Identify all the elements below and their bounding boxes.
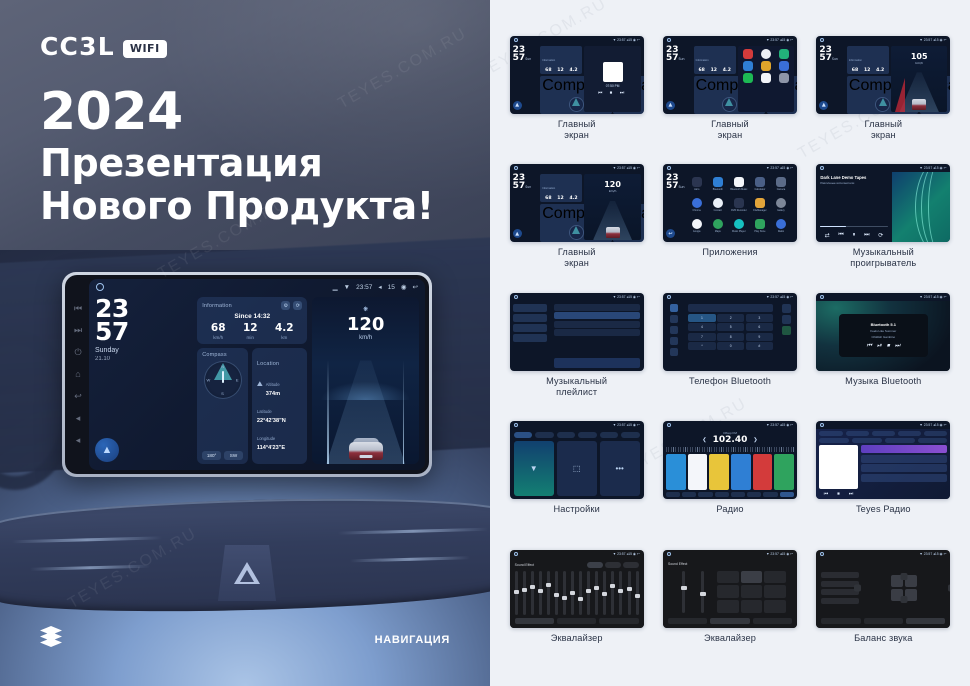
preset[interactable] <box>753 454 773 490</box>
location-icon[interactable]: ◉ <box>401 283 407 291</box>
gallery-item[interactable]: ▼ 23:57 ◂15 ◉ ↩ Bluetooth 5.1 Feels Like… <box>809 293 958 419</box>
preset-button[interactable] <box>717 600 739 613</box>
app-icon[interactable] <box>776 49 791 59</box>
compass-title: Compass <box>202 352 243 358</box>
album-art <box>819 445 857 489</box>
balance-front-button[interactable] <box>901 573 908 580</box>
next-button[interactable]: ⏭ <box>73 325 84 336</box>
home-icon[interactable] <box>820 295 824 299</box>
altitude-icon: ⛰ <box>257 381 263 389</box>
preset[interactable] <box>666 454 686 490</box>
app-icon[interactable]: DVR Recorder <box>730 198 748 217</box>
thumbnail-caption: Эквалайзер <box>551 633 603 644</box>
home-icon[interactable] <box>514 552 518 556</box>
thumbnail-grid: ▼ 23:57 ◂15 ◉ ↩ 2357Sun▲ Information6812… <box>502 36 958 676</box>
app-icon[interactable] <box>776 73 791 83</box>
thumbnail-teyes-radio[interactable]: ▼ 23:57 ◂15 ◉ ↩ ⏮ ⏹ ⏭ <box>816 421 950 499</box>
eq-slider[interactable] <box>619 571 622 615</box>
home-icon[interactable] <box>514 295 518 299</box>
home-icon[interactable] <box>820 423 824 427</box>
gallery-item[interactable]: ▼ 23:57 ◂15 ◉ ↩ ▼ ⬚ ••• Настройки <box>502 421 651 547</box>
thumbnail-caption: Баланс звука <box>854 633 912 644</box>
call-icon[interactable] <box>782 326 791 335</box>
more-card[interactable]: ••• <box>600 441 640 496</box>
preset-button[interactable] <box>717 585 739 598</box>
compass-mark-n: N <box>221 364 224 369</box>
track-artist: Childish Gambino <box>871 335 895 339</box>
clock-minutes: 57 <box>95 320 192 343</box>
clock-column: 23 57 Sunday 21.10 ▲ <box>95 297 192 464</box>
app-icon[interactable]: Bluetooth <box>709 177 727 196</box>
app-icon[interactable]: Chrome <box>688 198 706 217</box>
balance-right-button[interactable] <box>948 585 950 592</box>
preset-button[interactable] <box>717 571 739 584</box>
app-icon[interactable]: Play Store <box>751 219 769 238</box>
gallery-item[interactable]: ▼ 23:57 ◂15 ◉ ↩ 2357Sun▲ Information6812… <box>809 36 958 162</box>
play-pause-button[interactable]: ⏯ <box>877 343 882 350</box>
preset-button[interactable] <box>764 585 786 598</box>
wifi-icon: ▼ <box>344 284 350 291</box>
pause-button[interactable]: ⏸ <box>852 232 855 239</box>
dial-key[interactable]: 6 <box>746 323 773 331</box>
radio-frequency: 102.40 <box>713 435 748 445</box>
preset-button[interactable] <box>764 571 786 584</box>
thumbnail-sound-balance[interactable]: ▼ 23:57 ◂15 ◉ ↩ <box>816 550 950 628</box>
tune-up-button[interactable]: ❯ <box>753 437 757 443</box>
eq-slider[interactable] <box>579 571 582 615</box>
dial-key[interactable]: * <box>688 342 715 350</box>
tuning-scale[interactable] <box>666 447 794 452</box>
repeat-icon[interactable]: ⟳ <box>878 232 883 239</box>
app-icon[interactable] <box>759 49 774 59</box>
layers-icon[interactable] <box>40 626 62 646</box>
visualizer <box>892 172 951 242</box>
bass-treble-sliders[interactable] <box>674 571 712 613</box>
home-icon[interactable] <box>514 166 518 170</box>
adas-widget[interactable]: 105km/h <box>891 46 947 112</box>
head-unit-screen[interactable]: ▁ ▼ 23:57 ◂ 15 ◉ ↩ 23 57 <box>89 279 425 470</box>
thumbnail-caption: Главныйэкран <box>864 119 902 141</box>
track-list[interactable] <box>550 301 644 371</box>
dial-key[interactable]: 7 <box>688 333 715 341</box>
thumbnail-home-apps[interactable]: ▼ 23:57 ◂15 ◉ ↩ 2357Sun▲ Information6812… <box>663 36 797 114</box>
hotspot-card[interactable]: ⬚ <box>557 441 597 496</box>
dial-key[interactable]: # <box>746 342 773 350</box>
dial-key[interactable]: 5 <box>717 323 744 331</box>
compass-mark-e: E <box>236 378 239 383</box>
stat-distance: 4.2 km <box>275 322 294 340</box>
phone-number-input[interactable] <box>688 304 772 312</box>
preset-button[interactable] <box>764 600 786 613</box>
bluetooth-version: Bluetooth 5.1 <box>871 322 896 327</box>
gallery-item[interactable]: ▼ 23:57 ◂15 ◉ ↩ <box>809 550 958 676</box>
app-icon[interactable]: Maps <box>709 219 727 238</box>
app-icon[interactable]: Google <box>688 219 706 238</box>
gallery-item[interactable]: ▼ 23:57 ◂15 ◉ ↩ ⏮ ⏹ ⏭ <box>809 421 958 547</box>
preset[interactable] <box>774 454 794 490</box>
navigation-fab[interactable]: ▲ <box>95 438 119 462</box>
head-unit-device: ⏮ ⏭ ⏻ ⌂ ↩ ◂ ◂ ▁ ▼ 23:57 ◂ <box>62 272 432 477</box>
app-icon[interactable] <box>776 61 791 71</box>
presentation-page: CC3L WIFI 2024 Презентация Нового Продук… <box>0 0 970 686</box>
stop-button[interactable]: ⏹ <box>887 343 890 350</box>
app-icon[interactable] <box>759 61 774 71</box>
trip-since: Since 14:32 <box>202 313 302 320</box>
thumbnail-caption: Teyes Радио <box>856 504 911 515</box>
navigation-label: НАВИГАЦИЯ <box>375 634 450 646</box>
thumbnail-bluetooth-music[interactable]: ▼ 23:57 ◂15 ◉ ↩ Bluetooth 5.1 Feels Like… <box>816 293 950 371</box>
app-icon[interactable]: Bluetooth Music <box>730 177 748 196</box>
compass-mark-w: W <box>207 378 211 383</box>
dialpad[interactable]: 1 2 3 4 5 6 7 8 9 * 0 # <box>688 314 772 351</box>
refresh-icon[interactable]: ⟳ <box>293 301 302 310</box>
thumbnail-home-adas[interactable]: ▼ 23:57 ◂15 ◉ ↩ 2357Sun▲ Information6812… <box>816 36 950 114</box>
compass-dial: N E S W <box>204 361 242 399</box>
speed-value: 120 <box>347 314 385 335</box>
thumbnail-equalizer-simple[interactable]: ▼ 23:57 ◂15 ◉ ↩ Sound Effect <box>663 550 797 628</box>
eq-slider[interactable] <box>523 571 526 615</box>
preset-grid[interactable] <box>717 571 786 613</box>
shuffle-icon[interactable]: ⇄ <box>825 232 830 239</box>
app-icon[interactable]: Music Player <box>730 219 748 238</box>
equalizer-sliders[interactable] <box>515 571 639 615</box>
track-title: Feels Like Summer <box>870 329 896 333</box>
dial-key[interactable]: 9 <box>746 333 773 341</box>
thumbnail-caption: Главныйэкран <box>558 119 596 141</box>
thumbnail-caption: Музыка Bluetooth <box>845 376 921 387</box>
prev-button[interactable]: ⏮ <box>824 491 829 497</box>
preset-button[interactable] <box>741 571 763 584</box>
speed-value: 120km/h <box>604 180 621 193</box>
hazard-button[interactable] <box>218 545 276 601</box>
gallery-item[interactable]: ▼ 23:57 ◂15 ◉ ↩ 2357Sun▲ Information6812… <box>502 164 651 290</box>
app-icon[interactable]: Calculator <box>751 177 769 196</box>
thumbnail-bluetooth-phone[interactable]: ▼ 23:57 ◂15 ◉ ↩ 1 2 3 4 5 6 <box>663 293 797 371</box>
home-icon[interactable] <box>667 423 671 427</box>
app-icon[interactable]: FileManager <box>751 198 769 217</box>
preset[interactable] <box>709 454 729 490</box>
progress-bar[interactable] <box>820 226 887 228</box>
eq-slider[interactable] <box>555 571 558 615</box>
adas-speed-panel[interactable]: ❋ 120 km/h <box>312 297 419 464</box>
volume-level: 15 <box>388 284 395 291</box>
dial-key[interactable]: 8 <box>717 333 744 341</box>
prev-button[interactable]: ⏮ <box>838 232 843 239</box>
physical-button-rail[interactable]: ⏮ ⏭ ⏻ ⌂ ↩ ◂ ◂ <box>67 279 89 470</box>
eq-slider[interactable] <box>531 571 534 615</box>
thumbnail-apps[interactable]: ▼ 23:57 ◂15 ◉ ↩ 2357Sun↩ Авто Bluetooth … <box>663 164 797 242</box>
app-icon[interactable] <box>741 49 756 59</box>
track-title: Dark Lane Demo Tapes <box>820 175 887 180</box>
home-button[interactable]: ⌂ <box>73 369 84 380</box>
status-time: 23:57 <box>356 284 372 291</box>
settings-icon[interactable]: ⚙ <box>281 301 290 310</box>
thumbnail-music-player[interactable]: ▼ 23:57 ◂15 ◉ ↩ Dark Lane Demo Tapes Раз… <box>816 164 950 242</box>
app-icon[interactable]: Contact <box>709 198 727 217</box>
preset-button[interactable] <box>741 600 763 613</box>
volume-icon: ◂ <box>378 283 381 291</box>
stat-duration: 12 min <box>243 322 258 340</box>
compass-direction: SW <box>224 451 243 460</box>
app-drawer[interactable]: Авто Bluetooth Bluetooth Music Calculato… <box>688 174 794 240</box>
gallery-item[interactable]: ▼ 23:57 ◂15 ◉ ↩ Музыкальныйплейлист <box>502 293 651 419</box>
thumbnail-home-road[interactable]: ▼ 23:57 ◂15 ◉ ↩ 2357Sun▲ Information6812… <box>510 164 644 242</box>
radio-presets[interactable] <box>666 454 794 490</box>
thumbnail-caption: Настройки <box>553 504 599 515</box>
eq-slider[interactable] <box>515 571 518 615</box>
navigation-fab[interactable]: ▲ <box>513 101 522 110</box>
eq-slider[interactable] <box>547 571 550 615</box>
navigation-fab[interactable]: ▲ <box>513 229 522 238</box>
balance-rear-button[interactable] <box>901 596 908 603</box>
dial-key[interactable]: 1 <box>688 314 715 322</box>
gallery-item[interactable]: ▼ 23:57 ◂15 ◉ ↩ 2357Sun▲ Information6812… <box>655 36 804 162</box>
gallery-item[interactable]: ▼ 23:57 ◂15 ◉ ↩ Sound Effect <box>502 550 651 676</box>
prev-button[interactable]: ⏮ <box>73 303 84 314</box>
backspace-icon[interactable] <box>782 315 791 324</box>
speed-value: 105km/h <box>911 52 928 65</box>
thumbnail-caption: Главныйэкран <box>711 119 749 141</box>
media-widget[interactable]: 07:50 PM ⏮ ⏹ ⏭ <box>584 46 640 112</box>
thumbnail-playlist[interactable]: ▼ 23:57 ◂15 ◉ ↩ <box>510 293 644 371</box>
settings-tabs[interactable] <box>514 432 640 438</box>
home-icon[interactable] <box>820 552 824 556</box>
compass-heading: 180° <box>202 451 221 460</box>
prev-button[interactable]: ⏮ <box>866 343 871 350</box>
phone-sidebar[interactable] <box>663 301 684 371</box>
stop-button[interactable]: ⏹ <box>837 491 840 497</box>
favorite-icon[interactable] <box>782 304 791 313</box>
dial-key[interactable]: 2 <box>717 314 744 322</box>
thumbnail-caption: Главныйэкран <box>558 247 596 269</box>
lead-car-graphic <box>349 430 383 460</box>
preset[interactable] <box>688 454 708 490</box>
hero-headline: 2024 Презентация Нового Продукта! <box>40 86 434 227</box>
thumbnail-caption: Музыкальныйпроигрыватель <box>850 247 916 269</box>
location-widget[interactable]: Location ⛰ Altitude 374m <box>252 348 307 464</box>
wifi-card[interactable]: ▼ <box>514 441 554 496</box>
app-icon[interactable] <box>741 73 756 83</box>
volume-down-button[interactable]: ◂ <box>73 413 84 424</box>
eq-slider[interactable] <box>636 571 639 615</box>
next-button[interactable]: ⏭ <box>895 343 900 350</box>
back-icon[interactable]: ↩ <box>666 229 675 238</box>
screens-gallery-panel: TEYES.COM.RU TEYES.COM.RU TEYES.COM.RU ▼… <box>490 0 970 686</box>
clock-day: Sunday <box>95 347 192 356</box>
information-title: Information <box>202 303 232 309</box>
app-icon[interactable]: Gallery <box>772 198 790 217</box>
adas-widget[interactable]: 120km/h <box>584 174 640 240</box>
gallery-item[interactable]: ▼ 23:57 ◂15 ◉ ↩ 1 2 3 4 5 6 <box>655 293 804 419</box>
altitude-value: 374m <box>266 391 280 397</box>
app-icon[interactable]: Авто <box>688 177 706 196</box>
eq-slider[interactable] <box>587 571 590 615</box>
home-icon[interactable] <box>514 423 518 427</box>
eq-slider[interactable] <box>563 571 566 615</box>
latitude-label: Latitude <box>257 409 272 414</box>
app-icon[interactable] <box>741 61 756 71</box>
slider[interactable] <box>682 571 685 613</box>
home-icon[interactable] <box>667 38 671 42</box>
hero-panel: CC3L WIFI 2024 Презентация Нового Продук… <box>0 0 490 686</box>
headline-line-2: Нового Продукта! <box>40 185 434 228</box>
preset-button[interactable] <box>741 585 763 598</box>
station-list[interactable] <box>861 445 948 497</box>
balance-left-button[interactable] <box>854 585 861 592</box>
gallery-item[interactable]: ▼ 23:57 ◂15 ◉ ↩ Sound Effect <box>655 550 804 676</box>
longitude-value: 114°4'23"E <box>257 445 302 451</box>
dial-key[interactable]: 4 <box>688 323 715 331</box>
home-icon[interactable] <box>514 38 518 42</box>
app-icon[interactable]: Camera <box>772 177 790 196</box>
latitude-value: 22°42'38"N <box>257 418 302 424</box>
clock-date: 21.10 <box>95 356 192 364</box>
stat-speed: 68 km/h <box>211 322 226 340</box>
thumbnail-caption: Эквалайзер <box>704 633 756 644</box>
altitude-label: Altitude <box>266 382 280 387</box>
compass-widget[interactable]: Compass N E S W 180° <box>197 348 248 464</box>
gallery-item[interactable]: ▼ 23:57 ◂15 ◉ ↩ Обзор FM ❮ 102.40 ❯ <box>655 421 804 547</box>
logo-model: CC3L <box>40 32 115 61</box>
widgets-column: Information ⚙ ⟳ Since 14:32 68 <box>197 297 307 464</box>
information-widget[interactable]: Information ⚙ ⟳ Since 14:32 68 <box>197 297 307 344</box>
thumbnail-caption: Приложения <box>702 247 757 258</box>
gallery-item[interactable]: ▼ 23:57 ◂15 ◉ ↩ Dark Lane Demo Tapes Раз… <box>809 164 958 290</box>
speed-icon: ❋ <box>363 306 368 313</box>
volume-up-button[interactable]: ◂ <box>73 435 84 446</box>
next-button[interactable]: ⏭ <box>864 232 869 239</box>
dial-key[interactable]: 0 <box>717 342 744 350</box>
dial-key[interactable]: 3 <box>746 314 773 322</box>
longitude-label: Longitude <box>257 436 275 441</box>
logo-wifi-badge: WIFI <box>123 40 167 58</box>
tune-down-button[interactable]: ❮ <box>702 437 706 443</box>
thumbnail-radio[interactable]: ▼ 23:57 ◂15 ◉ ↩ Обзор FM ❮ 102.40 ❯ <box>663 421 797 499</box>
status-bar: ▁ ▼ 23:57 ◂ 15 ◉ ↩ <box>89 279 425 295</box>
gallery-item[interactable]: ▼ 23:57 ◂15 ◉ ↩ 2357Sun↩ Авто Bluetooth … <box>655 164 804 290</box>
home-icon[interactable] <box>96 283 104 291</box>
product-logo: CC3L WIFI <box>40 32 167 61</box>
home-icon[interactable] <box>820 166 824 170</box>
app-icon[interactable]: Radio <box>772 219 790 238</box>
speed-unit: km/h <box>359 335 372 341</box>
back-button[interactable]: ↩ <box>73 391 84 402</box>
thumbnail-home-media[interactable]: ▼ 23:57 ◂15 ◉ ↩ 2357Sun▲ Information6812… <box>510 36 644 114</box>
app-icon[interactable] <box>759 73 774 83</box>
home-icon[interactable] <box>667 166 671 170</box>
signal-icon: ▁ <box>333 283 338 291</box>
next-button[interactable]: ⏭ <box>849 491 854 497</box>
app-shortcuts[interactable] <box>738 46 794 112</box>
eq-slider[interactable] <box>628 571 631 615</box>
balance-stage[interactable] <box>864 575 946 601</box>
preset[interactable] <box>731 454 751 490</box>
navigation-fab[interactable]: ▲ <box>666 101 675 110</box>
home-icon[interactable] <box>667 295 671 299</box>
gallery-item[interactable]: ▼ 23:57 ◂15 ◉ ↩ 2357Sun▲ Information6812… <box>502 36 651 162</box>
thumbnail-caption: Музыкальныйплейлист <box>546 376 607 398</box>
thumbnail-caption: Радио <box>716 504 743 515</box>
navigation-fab[interactable]: ▲ <box>819 101 828 110</box>
playlist-sidebar[interactable] <box>510 301 550 371</box>
location-title: Location <box>257 361 279 367</box>
power-button[interactable]: ⏻ <box>73 347 84 358</box>
eq-slider[interactable] <box>571 571 574 615</box>
thumbnail-equalizer-bars[interactable]: ▼ 23:57 ◂15 ◉ ↩ Sound Effect <box>510 550 644 628</box>
eq-slider[interactable] <box>539 571 542 615</box>
thumbnail-caption: Телефон Bluetooth <box>689 376 771 387</box>
eq-slider[interactable] <box>595 571 598 615</box>
headline-line-1: Презентация <box>40 142 434 185</box>
home-icon[interactable] <box>820 38 824 42</box>
track-artist: Различные исполнители <box>820 181 887 185</box>
eq-slider[interactable] <box>603 571 606 615</box>
eq-slider[interactable] <box>611 571 614 615</box>
compass-mark-s: S <box>221 391 224 396</box>
slider[interactable] <box>701 571 704 613</box>
home-icon[interactable] <box>667 552 671 556</box>
thumbnail-settings[interactable]: ▼ 23:57 ◂15 ◉ ↩ ▼ ⬚ ••• <box>510 421 644 499</box>
headline-year: 2024 <box>40 86 434 138</box>
back-icon[interactable]: ↩ <box>413 283 418 291</box>
